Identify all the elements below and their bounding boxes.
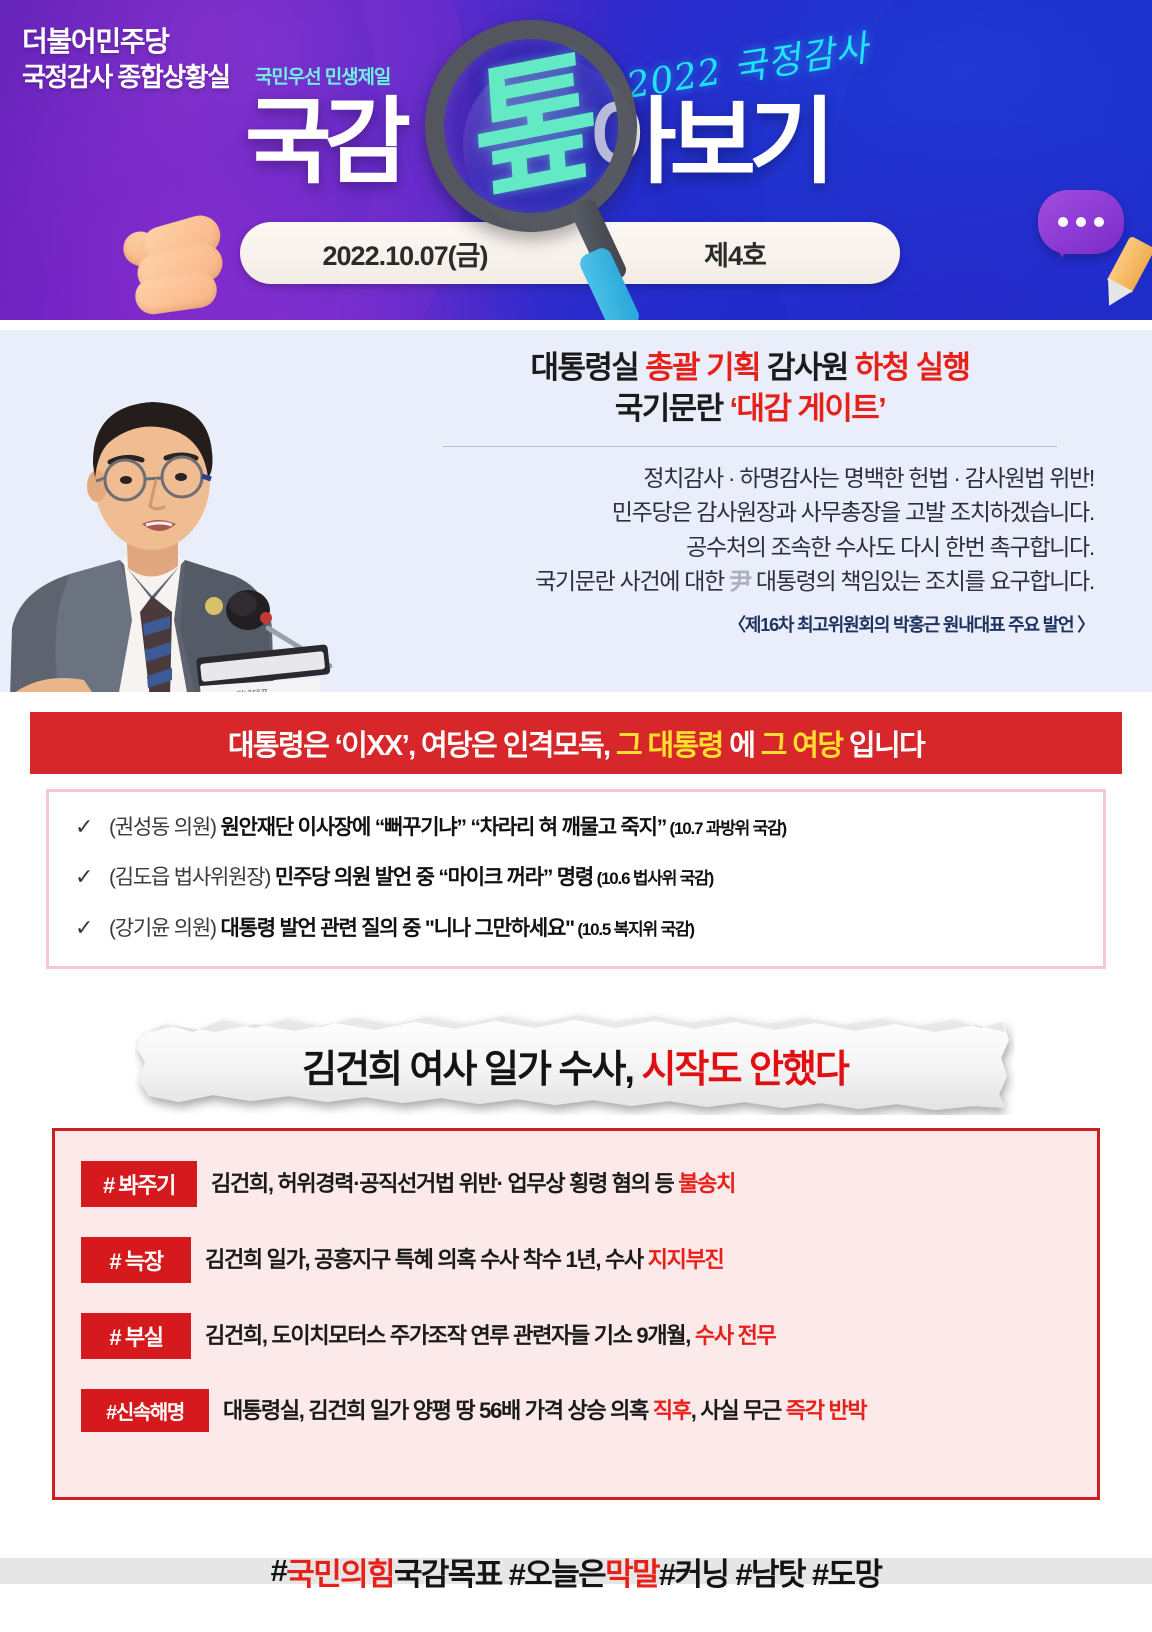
header-banner: 더불어민주당 국정감사 종합상황실 국민우선 민생제일 2022 국정감사 국감… xyxy=(0,0,1152,320)
magnifier-grip xyxy=(577,245,642,320)
footer-end: #커닝 #남탓 #도망 xyxy=(659,1549,881,1594)
speaker-photo-illustration: 원내대표 xyxy=(0,330,400,692)
speaker-photo: 원내대표 xyxy=(0,330,400,692)
quote-line4-yun: 尹 xyxy=(729,568,751,594)
checklist-speaker: (권성동 의원) xyxy=(109,816,220,839)
speech-bubble-icon xyxy=(1038,190,1124,254)
tag-row: #신속해명 대통령실, 김건희 일가 양평 땅 56배 가격 상승 의혹 직후,… xyxy=(81,1389,1097,1432)
checklist-quote: 대통령 발언 관련 질의 중 "니나 그만하세요" xyxy=(220,917,573,940)
tag-text: 김건희, 도이치모터스 주가조작 연루 관련자들 기소 9개월, 수사 전무 xyxy=(205,1322,775,1350)
checklist-speaker: (김도읍 법사위원장) xyxy=(109,866,275,889)
banner-part3: 에 xyxy=(723,730,761,762)
tag-row: # 늑장 김건희 일가, 공흥지구 특혜 의혹 수사 착수 1년, 수사 지지부… xyxy=(81,1237,1097,1283)
torn-headline-text: 김건희 여사 일가 수사, 시작도 안했다 xyxy=(302,1038,848,1093)
red-banner-text: 대통령은 ‘이XX’, 여당은 인격모독, 그 대통령 에 그 여당 입니다 xyxy=(228,722,924,764)
checklist-box: ✓ (권성동 의원) 원안재단 이사장에 “뻐꾸기냐” “차라리 혀 깨물고 죽… xyxy=(46,789,1106,969)
torn-headline-content: 김건희 여사 일가 수사, 시작도 안했다 xyxy=(135,1010,1015,1115)
bubble-dot-3 xyxy=(1094,217,1104,227)
quote-line-2: 민주당은 감사원장과 사무총장을 고발 조치하겠습니다. xyxy=(400,495,1094,530)
tag-text-highlight: 지지부진 xyxy=(648,1247,724,1272)
tag-text: 대통령실, 김건희 일가 양평 땅 56배 가격 상승 의혹 직후, 사실 무근… xyxy=(223,1397,866,1425)
tag-chip: # 늑장 xyxy=(81,1237,191,1283)
footer-red-2: 막말 xyxy=(605,1549,659,1594)
investigation-tag-box: # 봐주기 김건희, 허위경력·공직선거법 위반· 업무상 횡령 혐의 등 불송… xyxy=(52,1128,1100,1500)
tag-text: 김건희, 허위경력·공직선거법 위반· 업무상 횡령 혐의 등 불송치 xyxy=(211,1170,735,1198)
quote-headline-line1: 대통령실 총괄 기획 감사원 하청 실행 xyxy=(400,348,1100,389)
page-title-part1: 국감 xyxy=(245,89,404,194)
quote-content: 대통령실 총괄 기획 감사원 하청 실행 국기문란 ‘대감 게이트’ 정치감사 … xyxy=(400,348,1100,637)
banner-part5: 입니다 xyxy=(842,730,924,762)
quote-h1d: 하청 실행 xyxy=(855,350,970,385)
tag-text-highlight: 불송치 xyxy=(678,1171,735,1196)
checklist-row: ✓ (김도읍 법사위원장) 민주당 의원 발언 중 “마이크 꺼라” 명령 (1… xyxy=(75,864,1103,891)
checklist-quote: 원안재단 이사장에 “뻐꾸기냐” “차라리 혀 깨물고 죽지” xyxy=(220,816,666,839)
checklist-text: (김도읍 법사위원장) 민주당 의원 발언 중 “마이크 꺼라” 명령 (10.… xyxy=(109,865,713,891)
tag-text-highlight-2: 즉각 반박 xyxy=(786,1398,867,1423)
check-icon: ✓ xyxy=(75,814,109,840)
torn-black: 김건희 여사 일가 수사, xyxy=(302,1049,641,1091)
banner-part4: 그 여당 xyxy=(761,730,843,762)
footer-red-1: 국민의힘 xyxy=(286,1549,394,1594)
quote-line-1: 정치감사 · 하명감사는 명백한 헌법 · 감사원법 위반! xyxy=(400,461,1094,496)
tag-chip: # 부실 xyxy=(81,1313,191,1359)
party-slogan: 국민우선 민생제일 xyxy=(255,62,390,89)
quote-h1a: 대통령실 xyxy=(531,350,646,385)
quote-headline-line2: 국기문란 ‘대감 게이트’ xyxy=(400,389,1100,430)
torn-paper-headline: 김건희 여사 일가 수사, 시작도 안했다 xyxy=(135,1010,1015,1115)
magnifier-letter: 톺 xyxy=(446,17,626,236)
tag-text-pre: 김건희, 도이치모터스 주가조작 연루 관련자들 기소 9개월, xyxy=(205,1323,695,1348)
banner-part1: 대통령은 ‘이XX’, 여당은 인격모독, xyxy=(228,730,616,762)
bubble-dot-1 xyxy=(1058,217,1068,227)
quote-line-4: 국기문란 사건에 대한 尹 대통령의 책임있는 조치를 요구합니다. xyxy=(400,564,1094,599)
party-identity: 더불어민주당 국정감사 종합상황실 xyxy=(22,26,230,93)
bubble-dot-2 xyxy=(1076,217,1086,227)
tag-text: 김건희 일가, 공흥지구 특혜 의혹 수사 착수 1년, 수사 지지부진 xyxy=(205,1246,723,1274)
tag-chip: #신속해명 xyxy=(81,1389,209,1432)
check-icon: ✓ xyxy=(75,915,109,941)
quote-line-3: 공수처의 조속한 수사도 다시 한번 촉구합니다. xyxy=(400,530,1094,565)
tag-text-post: , 사실 무근 xyxy=(691,1398,786,1423)
torn-red: 시작도 안했다 xyxy=(642,1049,848,1091)
quote-paragraph: 정치감사 · 하명감사는 명백한 헌법 · 감사원법 위반! 민주당은 감사원장… xyxy=(400,461,1100,599)
footer-hashtags: #국민의힘 국감목표 #오늘은 막말 #커닝 #남탓 #도망 xyxy=(0,1510,1152,1632)
tag-chip: # 봐주기 xyxy=(81,1161,197,1207)
checklist-quote: 민주당 의원 발언 중 “마이크 꺼라” 명령 xyxy=(275,866,593,889)
tag-row: # 봐주기 김건희, 허위경력·공직선거법 위반· 업무상 횡령 혐의 등 불송… xyxy=(81,1161,1097,1207)
quote-h1c: 감사원 xyxy=(760,350,855,385)
tag-text-pre: 김건희, 허위경력·공직선거법 위반· 업무상 횡령 혐의 등 xyxy=(211,1171,678,1196)
footer-mid: 국감목표 #오늘은 xyxy=(394,1549,605,1594)
party-department: 국정감사 종합상황실 xyxy=(22,62,230,93)
checklist-text: (권성동 의원) 원안재단 이사장에 “뻐꾸기냐” “차라리 혀 깨물고 죽지”… xyxy=(109,815,786,841)
checklist-source: (10.7 과방위 국감) xyxy=(666,819,786,838)
quote-divider xyxy=(443,446,1057,447)
checklist-source: (10.6 법사위 국감) xyxy=(593,869,713,888)
quote-attribution: 〈제16차 최고위원회의 박홍근 원내대표 주요 발언 〉 xyxy=(400,611,1100,637)
quote-headline: 대통령실 총괄 기획 감사원 하청 실행 국기문란 ‘대감 게이트’ xyxy=(400,348,1100,430)
checklist-row: ✓ (강기윤 의원) 대통령 발언 관련 질의 중 "니나 그만하세요" (10… xyxy=(75,915,1103,942)
tag-text-pre: 대통령실, 김건희 일가 양평 땅 56배 가격 상승 의혹 xyxy=(223,1398,653,1423)
checklist-speaker: (강기윤 의원) xyxy=(109,917,220,940)
footer-hashtag-text: #국민의힘 국감목표 #오늘은 막말 #커닝 #남탓 #도망 xyxy=(0,1510,1152,1632)
hand-illustration xyxy=(125,215,245,320)
magnifier-icon: 톺 xyxy=(425,20,655,310)
checklist-row: ✓ (권성동 의원) 원안재단 이사장에 “뻐꾸기냐” “차라리 혀 깨물고 죽… xyxy=(75,814,1103,841)
footer-hash: # xyxy=(271,1553,287,1589)
quote-section: 원내대표 대통령실 총괄 기획 감사원 하청 실행 국기문란 ‘대감 게이트’ … xyxy=(0,330,1152,692)
quote-h1b: 총괄 기획 xyxy=(645,350,760,385)
checklist-text: (강기윤 의원) 대통령 발언 관련 질의 중 "니나 그만하세요" (10.5… xyxy=(109,916,694,942)
checklist-source: (10.5 복지위 국감) xyxy=(574,920,694,939)
banner-part2: 그 대통령 xyxy=(616,730,723,762)
tag-text-pre: 김건희 일가, 공흥지구 특혜 의혹 수사 착수 1년, 수사 xyxy=(205,1247,648,1272)
quote-line4-post: 대통령의 책임있는 조치를 요구합니다. xyxy=(751,568,1094,594)
quote-h2b: ‘대감 게이트’ xyxy=(730,391,886,426)
check-icon: ✓ xyxy=(75,864,109,890)
tag-text-highlight: 직후 xyxy=(653,1398,691,1423)
quote-line4-pre: 국기문란 사건에 대한 xyxy=(535,568,729,594)
red-banner: 대통령은 ‘이XX’, 여당은 인격모독, 그 대통령 에 그 여당 입니다 xyxy=(30,712,1122,774)
tag-row: # 부실 김건희, 도이치모터스 주가조작 연루 관련자들 기소 9개월, 수사… xyxy=(81,1313,1097,1359)
quote-h2a: 국기문란 xyxy=(615,391,730,426)
tag-text-highlight: 수사 전무 xyxy=(695,1323,776,1348)
infographic-page: 더불어민주당 국정감사 종합상황실 국민우선 민생제일 2022 국정감사 국감… xyxy=(0,0,1152,1632)
party-name: 더불어민주당 xyxy=(22,26,230,57)
